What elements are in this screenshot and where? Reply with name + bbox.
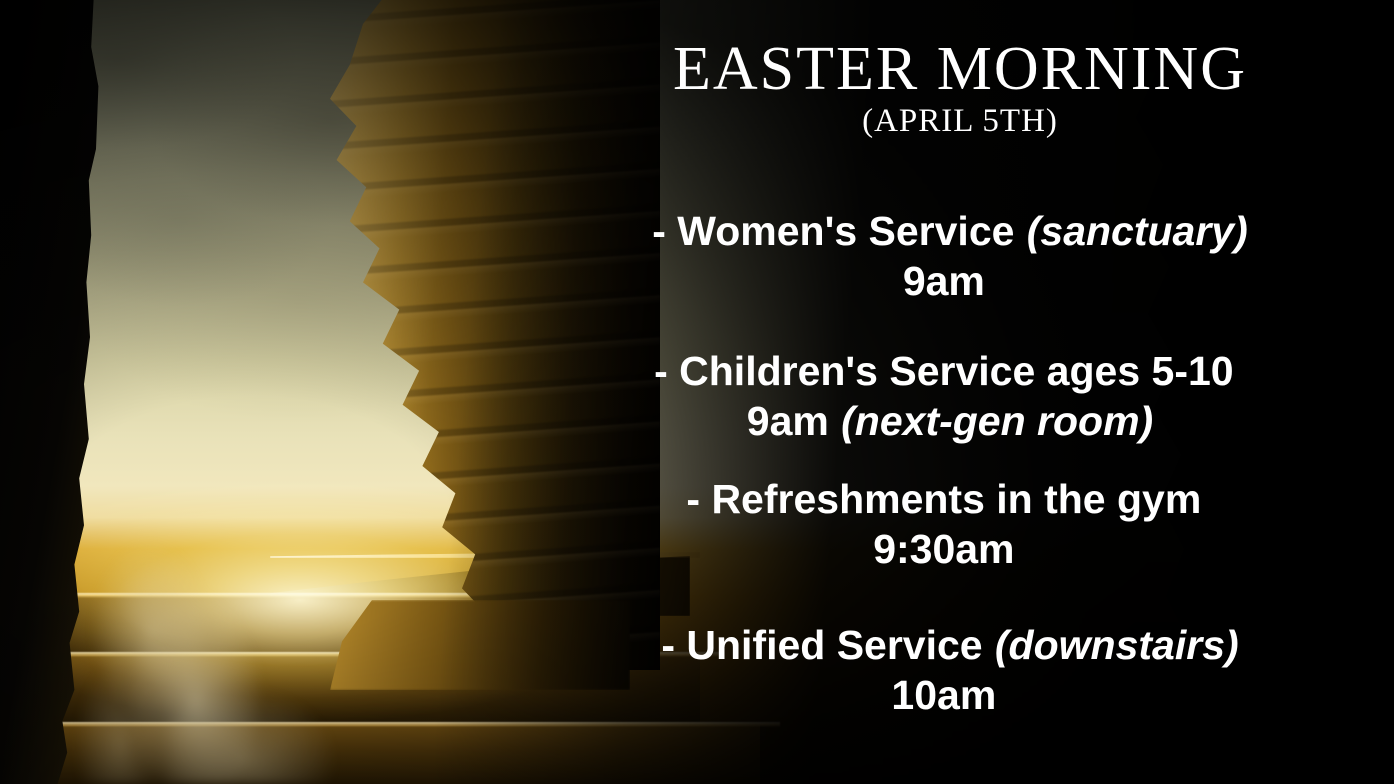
schedule-item-timing: 9am(next-gen room): [520, 396, 1380, 446]
schedule-item-label: - Unified Service: [661, 622, 982, 668]
schedule-item-timing: 10am: [520, 670, 1380, 720]
slide-title: EASTER MORNING: [560, 38, 1360, 101]
schedule-item-heading: - Refreshments in the gym: [520, 474, 1380, 524]
schedule-item-time: 9am: [903, 258, 985, 304]
schedule-list: - Women's Service(sanctuary) 9am - Child…: [520, 206, 1380, 720]
schedule-item: - Children's Service ages 5-10 9am(next-…: [520, 346, 1380, 446]
schedule-item: - Unified Service(downstairs) 10am: [520, 620, 1380, 720]
schedule-item-label: - Women's Service: [652, 208, 1014, 254]
schedule-item-timing: 9am: [520, 256, 1380, 306]
schedule-item: - Refreshments in the gym 9:30am: [520, 474, 1380, 574]
schedule-item-label: - Refreshments in the gym: [686, 476, 1201, 522]
schedule-item-heading: - Women's Service(sanctuary): [520, 206, 1380, 256]
schedule-item-time-note: (next-gen room): [841, 398, 1153, 444]
schedule-item-note: (sanctuary): [1027, 208, 1248, 254]
slide-subtitle: (APRIL 5TH): [560, 103, 1360, 141]
schedule-item-timing: 9:30am: [520, 524, 1380, 574]
slide-content: EASTER MORNING (APRIL 5TH) - Women's Ser…: [0, 0, 1394, 784]
schedule-item: - Women's Service(sanctuary) 9am: [520, 206, 1380, 306]
title-block: EASTER MORNING (APRIL 5TH): [560, 38, 1360, 141]
schedule-item-note: (downstairs): [995, 622, 1239, 668]
schedule-item-heading: - Children's Service ages 5-10: [520, 346, 1380, 396]
schedule-item-time: 9am: [747, 398, 829, 444]
schedule-item-time: 9:30am: [873, 526, 1014, 572]
easter-morning-slide: EASTER MORNING (APRIL 5TH) - Women's Ser…: [0, 0, 1394, 784]
schedule-item-time: 10am: [891, 672, 996, 718]
schedule-item-label: - Children's Service ages 5-10: [654, 348, 1233, 394]
schedule-item-heading: - Unified Service(downstairs): [520, 620, 1380, 670]
